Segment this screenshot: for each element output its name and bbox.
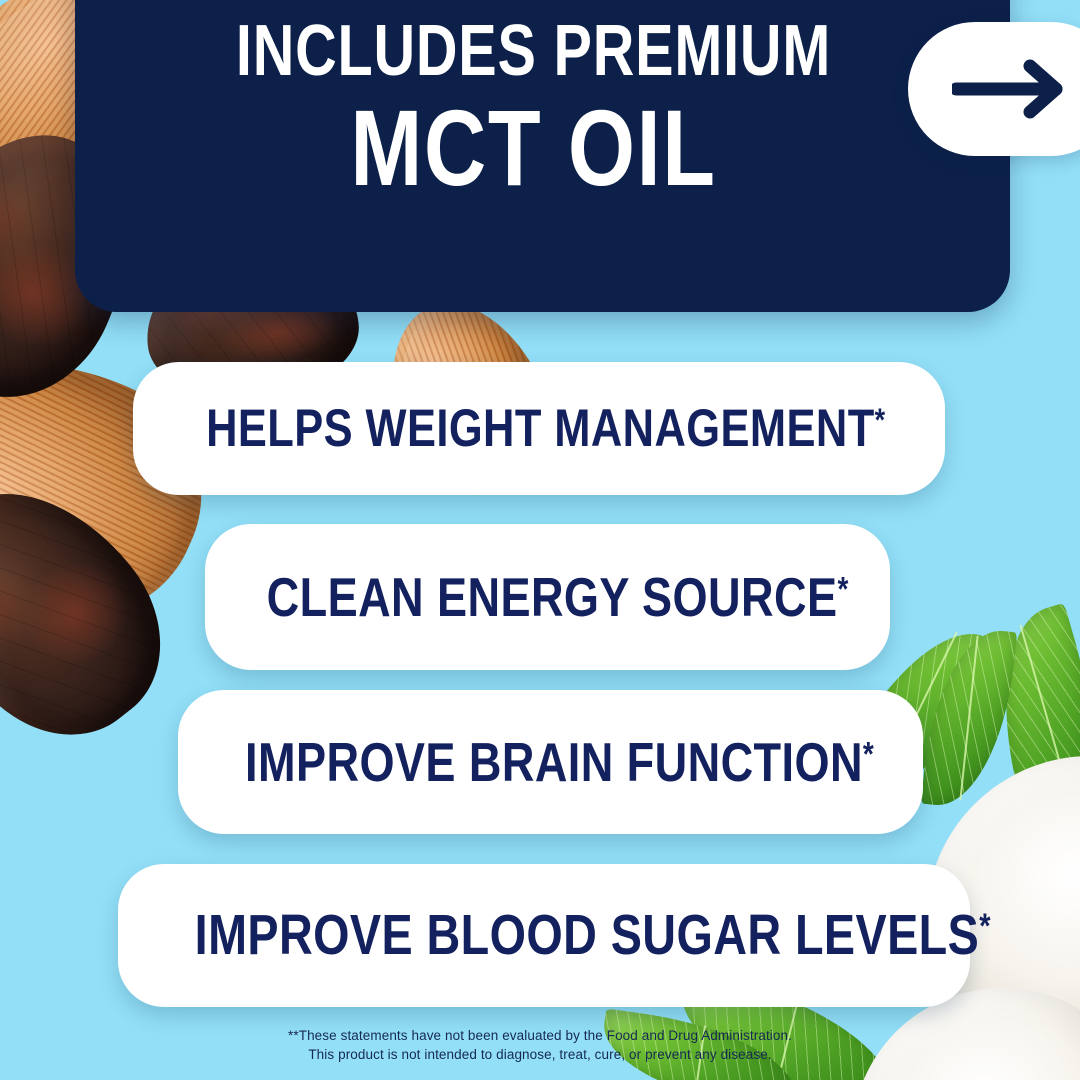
- benefit-label: CLEAN ENERGY SOURCE*: [267, 570, 829, 625]
- benefit-label-text: CLEAN ENERGY SOURCE: [267, 566, 838, 628]
- header-line-1: INCLUDES PREMIUM: [167, 16, 901, 87]
- benefit-label-text: IMPROVE BLOOD SUGAR LEVELS: [195, 903, 980, 967]
- benefit-pill-brain-function[interactable]: IMPROVE BRAIN FUNCTION*: [178, 690, 923, 834]
- benefit-pill-blood-sugar[interactable]: IMPROVE BLOOD SUGAR LEVELS*: [118, 864, 970, 1007]
- header-line-2: MCT OIL: [167, 93, 901, 203]
- footnote-marker: *: [875, 401, 886, 438]
- benefit-label-text: HELPS WEIGHT MANAGEMENT: [206, 399, 875, 458]
- footnote-marker: *: [837, 570, 848, 608]
- benefit-pill-weight-management[interactable]: HELPS WEIGHT MANAGEMENT*: [133, 362, 945, 495]
- footnote-marker: *: [863, 735, 874, 773]
- benefit-label: IMPROVE BLOOD SUGAR LEVELS*: [195, 907, 894, 964]
- benefit-label: HELPS WEIGHT MANAGEMENT*: [206, 402, 872, 455]
- disclaimer-line-2: This product is not intended to diagnose…: [0, 1045, 1080, 1064]
- arrow-right-icon: [952, 59, 1074, 119]
- header-title-block: INCLUDES PREMIUM MCT OIL: [75, 16, 1010, 203]
- header-banner: INCLUDES PREMIUM MCT OIL: [75, 0, 1010, 312]
- footnote-marker: *: [979, 907, 991, 946]
- benefit-label: IMPROVE BRAIN FUNCTION*: [245, 735, 856, 790]
- benefit-pill-clean-energy[interactable]: CLEAN ENERGY SOURCE*: [205, 524, 890, 670]
- promo-graphic: INCLUDES PREMIUM MCT OIL HELPS WEIGHT MA…: [0, 0, 1080, 1080]
- benefit-label-text: IMPROVE BRAIN FUNCTION: [245, 731, 863, 793]
- disclaimer-line-1: **These statements have not been evaluat…: [0, 1026, 1080, 1045]
- fda-disclaimer: **These statements have not been evaluat…: [0, 1026, 1080, 1064]
- next-arrow-button[interactable]: [908, 22, 1080, 156]
